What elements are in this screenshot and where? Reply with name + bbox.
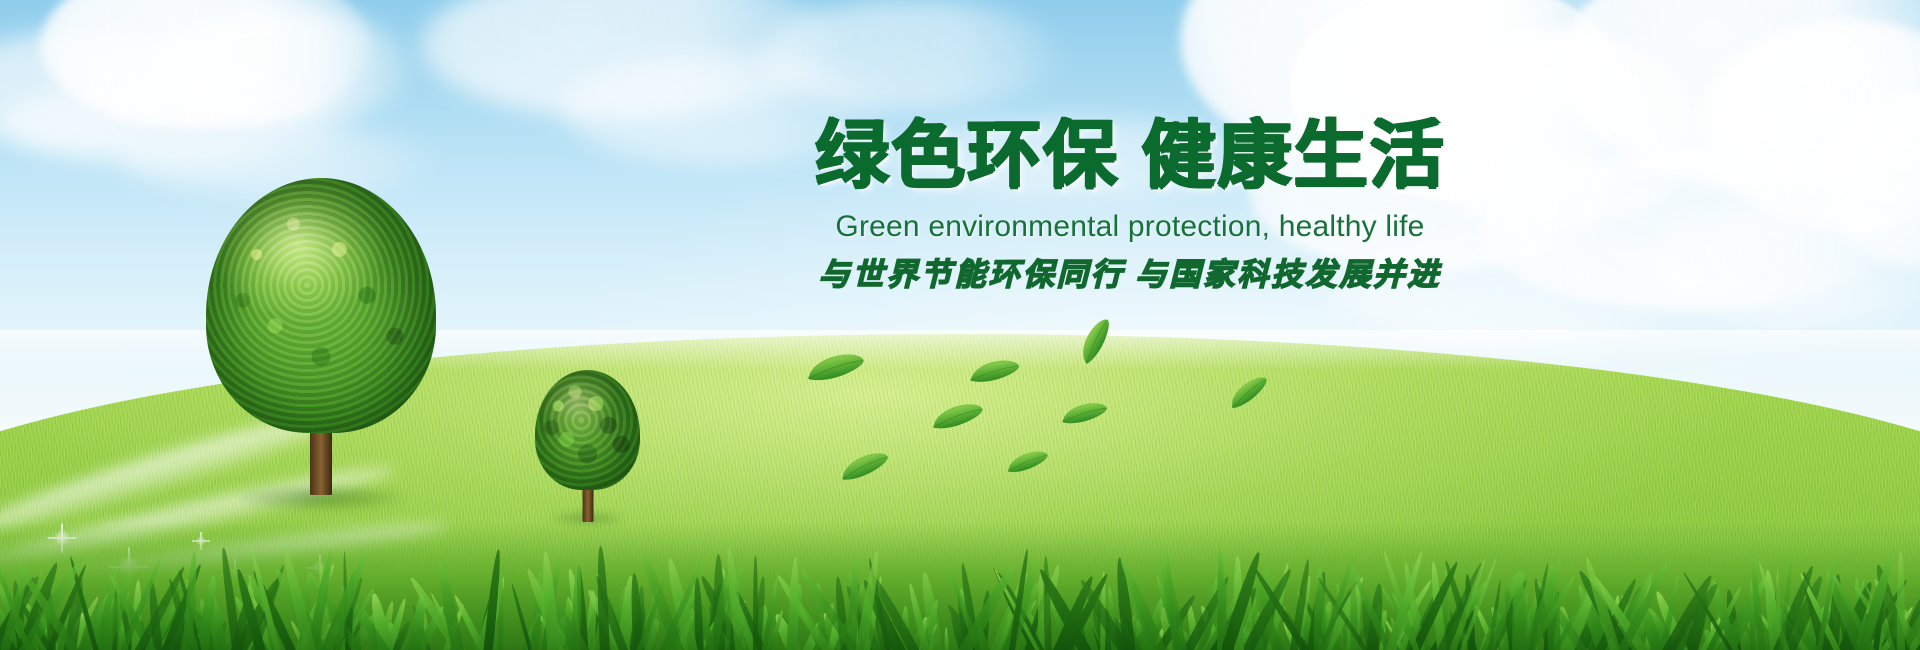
headline-chinese: 绿色环保 健康生活 [770, 118, 1490, 192]
headline-block: 绿色环保 健康生活 Green environmental protection… [770, 118, 1490, 290]
small-tree-canopy-texture [535, 370, 640, 490]
grass-blade [787, 557, 801, 650]
grass-blade [944, 627, 949, 650]
grass-blade [1897, 551, 1905, 650]
big-tree [206, 178, 436, 495]
cloud-mid-c [760, 0, 1060, 110]
banner-root: 绿色环保 健康生活 Green environmental protection… [0, 0, 1920, 650]
big-tree-trunk [310, 427, 332, 495]
grass-blade [753, 556, 757, 650]
foreground-grass-band [0, 522, 1920, 650]
subtitle-calligraphy: 与世界节能环保同行 与国家科技发展并进 [770, 259, 1490, 290]
big-tree-canopy-texture [206, 178, 436, 433]
subtitle-english: Green environmental protection, healthy … [770, 212, 1490, 242]
grass-blade [595, 546, 609, 650]
small-tree [535, 370, 640, 522]
